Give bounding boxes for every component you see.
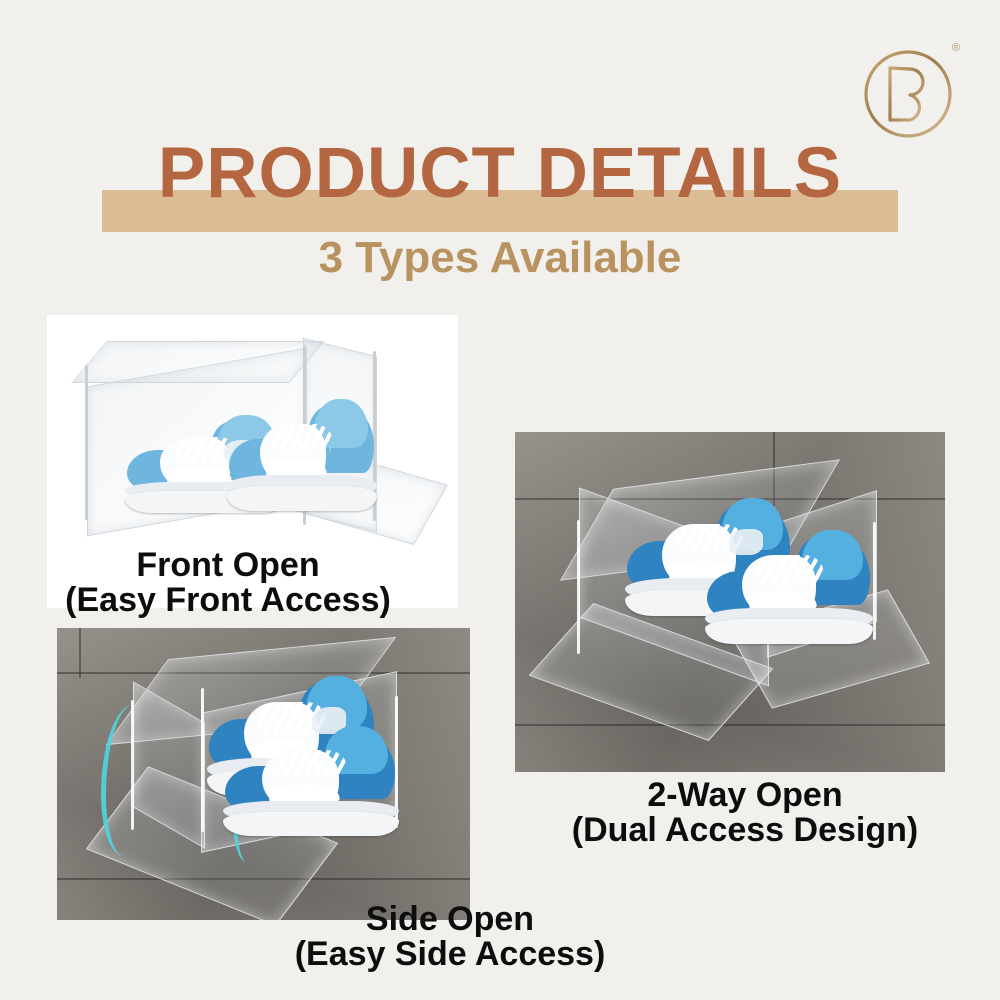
sneaker-front [705,530,873,644]
caption-line-1: 2-Way Open [545,778,945,813]
sneaker-front [227,399,377,511]
acrylic-box-front-open [77,337,427,557]
box-edge [85,365,88,520]
caption-front-open: Front Open (Easy Front Access) [18,548,438,617]
caption-side-open: Side Open (Easy Side Access) [210,902,690,971]
box-edge [201,688,204,832]
caption-line-2: (Dual Access Design) [545,813,945,848]
box-edge [577,520,580,654]
caption-two-way-open: 2-Way Open (Dual Access Design) [545,778,945,847]
box-edge [873,522,876,640]
product-photo-side-open [57,628,470,920]
product-photo-two-way-open [515,432,945,772]
acrylic-box-side-open [115,640,455,902]
brand-logo: ® [852,38,970,146]
box-top-face [71,341,324,383]
caption-line-2: (Easy Side Access) [210,937,690,972]
caption-line-2: (Easy Front Access) [18,583,438,618]
floor-seam [79,628,81,678]
sneaker-front [223,726,399,836]
registered-trademark-icon: ® [952,42,960,54]
acrylic-box-two-way-open [555,456,915,726]
page-subtitle: 3 Types Available [0,236,1000,280]
caption-line-1: Side Open [210,902,690,937]
page-title: PRODUCT DETAILS [0,138,1000,209]
caption-line-1: Front Open [18,548,438,583]
